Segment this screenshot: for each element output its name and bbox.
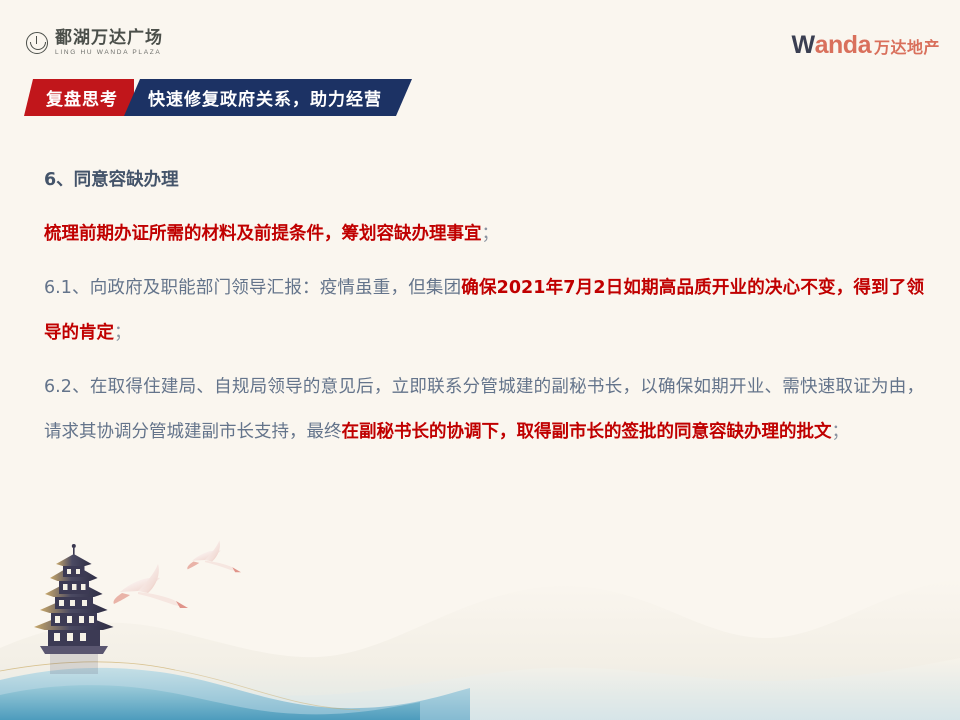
lake-circle-logo-icon: [26, 32, 48, 54]
wanda-logo-anda: anda: [815, 31, 871, 60]
section-heading: 6、同意容缺办理: [44, 160, 924, 200]
wanda-logo-w: W: [792, 31, 815, 60]
paragraph-6-1: 6.1、向政府及职能部门领导汇报：疫情虽重，但集团确保2021年7月2日如期高品…: [44, 266, 924, 356]
paragraph-6-2-emphasis: 在副秘书长的协调下，取得副市长的签批的同意容缺办理的批文: [342, 422, 832, 442]
wanda-corporate-logo: W anda 万达地产: [792, 31, 940, 60]
paragraph-6-1-tail: ；: [114, 323, 132, 343]
plaza-logo: 鄱湖万达广场 LING HU WANDA PLAZA: [26, 30, 163, 57]
paragraph-6-1-lead: 6.1、向政府及职能部门领导汇报：疫情虽重，但集团: [44, 278, 461, 298]
blue-wave-decoration: [0, 662, 470, 720]
flying-cranes-icon: [113, 541, 240, 608]
pagoda-icon: [34, 544, 114, 674]
banner-title: 快速修复政府关系，助力经营: [124, 79, 412, 116]
plaza-logo-en: LING HU WANDA PLAZA: [55, 50, 163, 57]
banner-tag: 复盘思考: [24, 79, 134, 116]
slide-content: 6、同意容缺办理 梳理前期办证所需的材料及前提条件，筹划容缺办理事宜； 6.1、…: [44, 160, 924, 464]
paragraph-6-2: 6.2、在取得住建局、自规局领导的意见后，立即联系分管城建的副秘书长，以确保如期…: [44, 365, 924, 455]
plaza-logo-text: 鄱湖万达广场 LING HU WANDA PLAZA: [55, 30, 163, 57]
slide-header: 鄱湖万达广场 LING HU WANDA PLAZA W anda 万达地产: [0, 0, 960, 78]
plaza-logo-cn: 鄱湖万达广场: [55, 30, 163, 47]
bottom-decoration: [0, 530, 960, 720]
paragraph-6-2-tail: ；: [832, 422, 850, 442]
highlight-line-text: 梳理前期办证所需的材料及前提条件，筹划容缺办理事宜: [44, 224, 482, 244]
title-banner: 复盘思考 快速修复政府关系，助力经营: [24, 79, 412, 116]
highlight-line: 梳理前期办证所需的材料及前提条件，筹划容缺办理事宜；: [44, 212, 924, 257]
highlight-line-semicolon: ；: [482, 224, 500, 244]
wanda-logo-cn: 万达地产: [874, 34, 940, 58]
mountain-wave-decoration: [0, 578, 960, 720]
